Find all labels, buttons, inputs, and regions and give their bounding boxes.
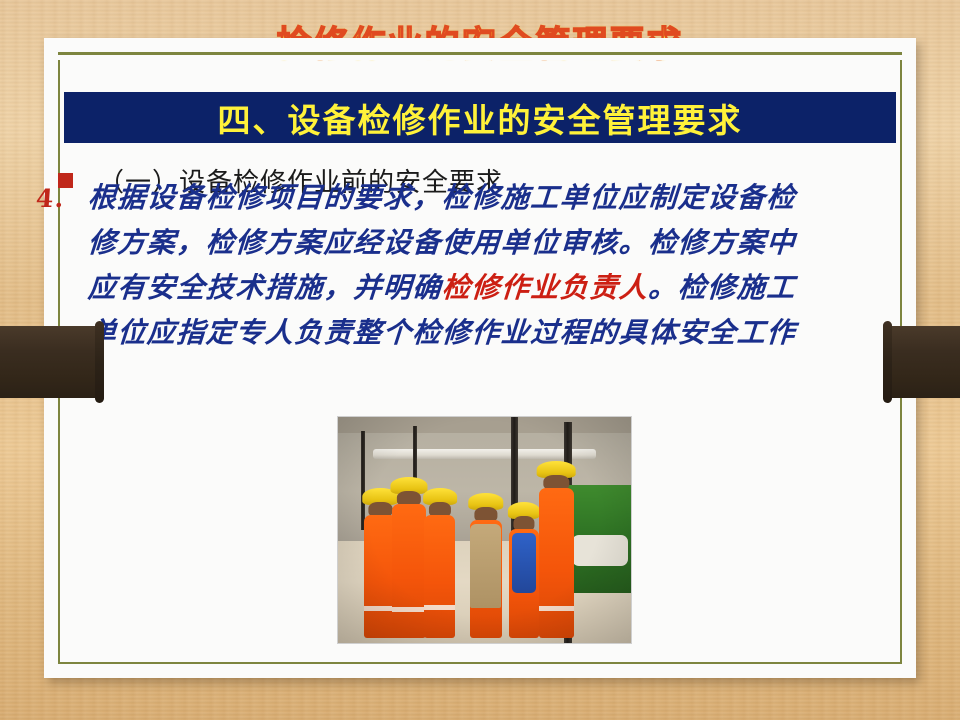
body-line-3-highlight: 检修作业负责人 xyxy=(441,266,650,306)
frame-rail-left xyxy=(0,326,102,398)
content-photo xyxy=(337,416,632,644)
photo-worker-1-head xyxy=(369,502,392,518)
photo-worker-5-vest xyxy=(512,533,535,593)
body-line-3-text-a: 应有安全技术措施，并明确 xyxy=(87,266,444,306)
photo-worker-5 xyxy=(509,503,538,639)
slide-inner-border-top-segment xyxy=(58,52,902,55)
body-line-3-text-b: 。检修施工 xyxy=(647,266,797,306)
frame-rail-right xyxy=(885,326,960,398)
hard-hat-icon xyxy=(423,488,457,505)
hard-hat-icon xyxy=(391,477,428,494)
photo-worker-3 xyxy=(424,489,455,638)
hard-hat-icon xyxy=(508,502,540,519)
section-banner-title: 四、设备检修作业的安全管理要求 xyxy=(218,94,743,142)
reflective-stripe xyxy=(424,605,455,610)
photo-worker-4-robe xyxy=(470,524,501,608)
photo-worker-3-head xyxy=(429,502,451,518)
photo-worker-1 xyxy=(364,489,396,638)
list-number: 4. xyxy=(35,184,89,213)
frame-rail-right-cap xyxy=(883,321,892,403)
photo-worker-3-body xyxy=(424,515,455,638)
photo-worker-4-body xyxy=(470,520,502,639)
photo-worker-2-body xyxy=(392,504,426,638)
photo-worker-4 xyxy=(470,494,502,639)
photo-green-machinery xyxy=(567,485,631,593)
photo-wall-top-band xyxy=(338,417,631,433)
photo-worker-4-head xyxy=(474,507,497,523)
photo-equipment-box xyxy=(394,519,423,557)
body-line-3: 应有安全技术措施，并明确 检修作业负责人 。检修施工 xyxy=(34,266,861,311)
photo-worker-2 xyxy=(392,478,426,638)
body-line-2: 修方案，检修方案应经设备使用单位审核。检修方案中 xyxy=(34,221,861,266)
photo-horizontal-pipe xyxy=(373,449,596,459)
photo-white-vessel xyxy=(572,535,628,567)
photo-worker-2-head xyxy=(397,491,421,507)
section-banner: 四、设备检修作业的安全管理要求 xyxy=(64,92,896,143)
slide-stage: 检修作业的安全管理要求 四、设备检修作业的安全管理要求 （一）设备检修作业前的安… xyxy=(0,0,960,720)
photo-worker-5-head xyxy=(513,516,534,532)
photo-column-3 xyxy=(413,426,418,534)
photo-ground xyxy=(338,541,631,643)
reflective-stripe xyxy=(539,606,574,611)
photo-worker-6-body xyxy=(539,488,574,638)
reflective-stripe xyxy=(364,606,396,611)
body-paragraph: 4. 根据设备检修项目的要求，检修施工单位应制定设备检 修方案，检修方案应经设备… xyxy=(36,176,860,401)
photo-worker-1-body xyxy=(364,515,396,638)
photo-scene xyxy=(338,417,631,643)
body-line-4: 单位应指定专人负责整个检修作业过程的具体安全工作 xyxy=(34,311,861,356)
reflective-stripe xyxy=(392,607,426,612)
body-line-2-text: 修方案，检修方案应经设备使用单位审核。检修方案中 xyxy=(87,221,798,261)
frame-rail-left-cap xyxy=(95,321,104,403)
body-line-1-text: 根据设备检修项目的要求，检修施工单位应制定设备检 xyxy=(87,176,798,216)
photo-column-2 xyxy=(564,422,573,643)
body-line-1: 4. 根据设备检修项目的要求，检修施工单位应制定设备检 xyxy=(34,176,861,221)
hard-hat-icon xyxy=(363,488,398,505)
photo-worker-6 xyxy=(539,462,574,638)
hard-hat-icon xyxy=(537,461,576,478)
photo-column-4 xyxy=(361,431,365,530)
body-line-4-text: 单位应指定专人负责整个检修作业过程的具体安全工作 xyxy=(87,311,798,351)
photo-worker-6-head xyxy=(544,475,569,491)
photo-wall xyxy=(338,417,631,541)
body-line-5: 。 xyxy=(34,356,861,401)
photo-column-1 xyxy=(511,417,518,611)
slide-top-edge-mask xyxy=(44,38,916,60)
photo-worker-5-body xyxy=(509,529,538,639)
hard-hat-icon xyxy=(468,493,503,510)
